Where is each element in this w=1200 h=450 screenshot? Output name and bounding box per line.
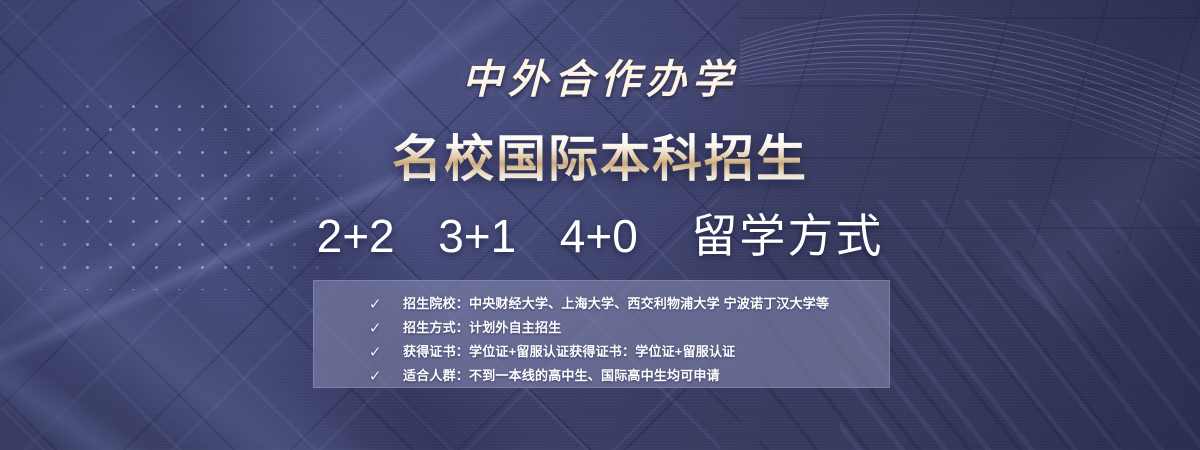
list-item-text: 获得证书：学位证+留服认证获得证书：学位证+留服认证 xyxy=(403,344,735,360)
banner-subheadline: 2+2 3+1 4+0 留学方式 xyxy=(0,208,1200,264)
program-highlights-box: ✓ 招生院校：中央财经大学、上海大学、西交利物浦大学 宁波诺丁汉大学等 ✓ 招生… xyxy=(313,280,890,388)
list-item-text: 适合人群：不到一本线的高中生、国际高中生均可申请 xyxy=(403,368,720,384)
study-mode-1: 2+2 xyxy=(317,210,395,262)
promo-banner: 中外合作办学 名校国际本科招生 2+2 3+1 4+0 留学方式 ✓ 招生院校：… xyxy=(0,0,1200,450)
banner-eyebrow-title: 中外合作办学 xyxy=(0,56,1200,104)
check-icon: ✓ xyxy=(369,297,403,312)
banner-content: 中外合作办学 名校国际本科招生 2+2 3+1 4+0 留学方式 ✓ 招生院校：… xyxy=(0,0,1200,450)
check-icon: ✓ xyxy=(369,321,403,336)
study-mode-3: 4+0 xyxy=(560,210,638,262)
check-icon: ✓ xyxy=(369,345,403,360)
list-item-text: 招生院校：中央财经大学、上海大学、西交利物浦大学 宁波诺丁汉大学等 xyxy=(403,296,829,312)
banner-headline: 名校国际本科招生 xyxy=(0,130,1200,188)
program-highlights-list: ✓ 招生院校：中央财经大学、上海大学、西交利物浦大学 宁波诺丁汉大学等 ✓ 招生… xyxy=(314,281,889,388)
study-mode-suffix: 留学方式 xyxy=(691,210,883,262)
list-item: ✓ 适合人群：不到一本线的高中生、国际高中生均可申请 xyxy=(314,364,889,388)
list-item: ✓ 招生方式：计划外自主招生 xyxy=(314,316,889,340)
study-mode-2: 3+1 xyxy=(438,210,516,262)
list-item-text: 招生方式：计划外自主招生 xyxy=(403,320,561,336)
check-icon: ✓ xyxy=(369,369,403,384)
list-item: ✓ 招生院校：中央财经大学、上海大学、西交利物浦大学 宁波诺丁汉大学等 xyxy=(314,292,889,316)
list-item: ✓ 获得证书：学位证+留服认证获得证书：学位证+留服认证 xyxy=(314,340,889,364)
